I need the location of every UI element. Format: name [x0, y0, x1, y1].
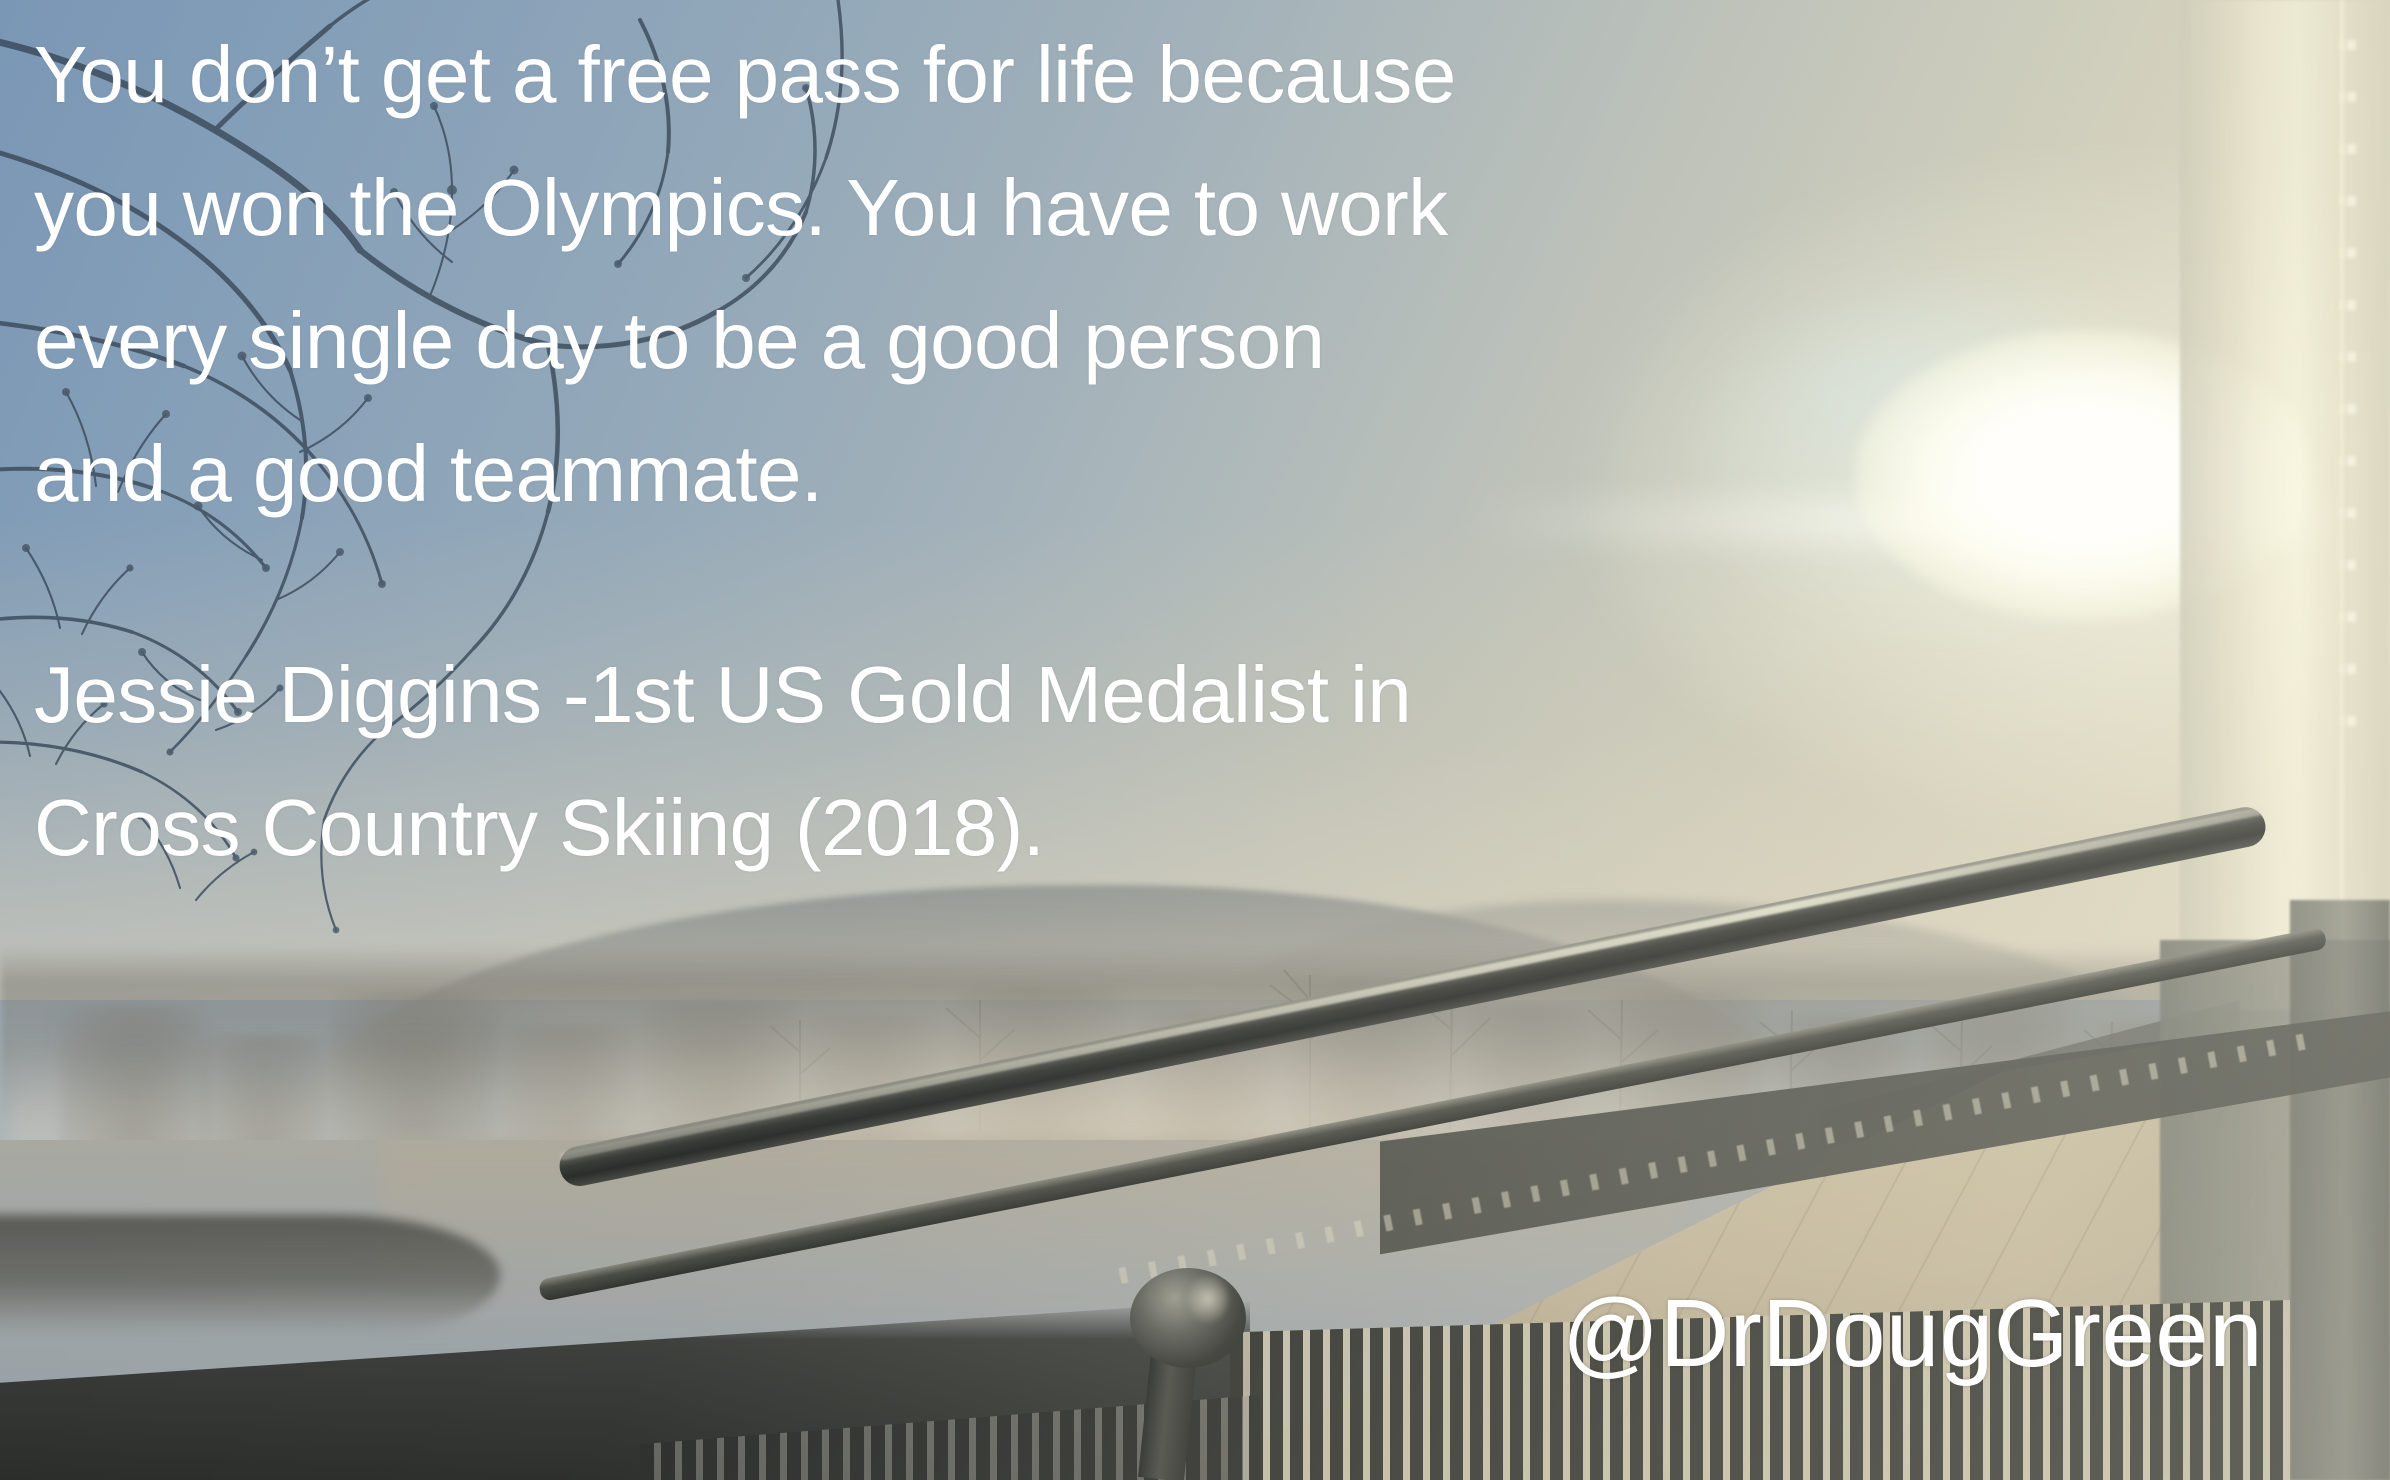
text-overlay: You don’t get a free pass for life becau…	[0, 0, 2390, 1480]
quote-line-2: you won the Olympics. You have to work	[34, 141, 2054, 274]
attribution-line-2: Cross Country Skiing (2018).	[34, 761, 2054, 894]
quote-line-1: You don’t get a free pass for life becau…	[34, 8, 2054, 141]
attribution-block: Jessie Diggins -1st US Gold Medalist in …	[34, 628, 2054, 894]
watermark-handle: @DrDougGreen	[1562, 1280, 2263, 1388]
quote-line-3: every single day to be a good person	[34, 274, 2054, 407]
quote-image: You don’t get a free pass for life becau…	[0, 0, 2390, 1480]
quote-line-4: and a good teammate.	[34, 407, 2054, 540]
attribution-line-1: Jessie Diggins -1st US Gold Medalist in	[34, 628, 2054, 761]
quote-text-block: You don’t get a free pass for life becau…	[34, 8, 2054, 540]
